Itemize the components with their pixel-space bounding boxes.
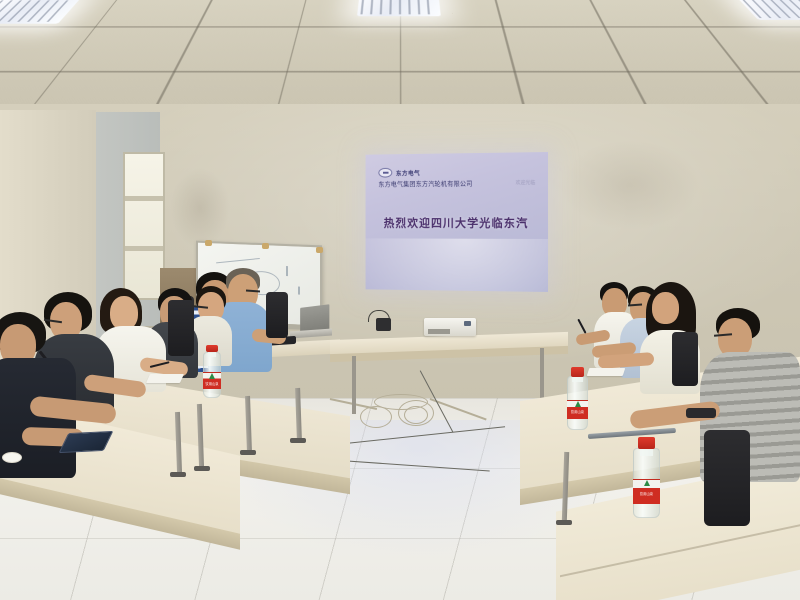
- office-chair: [168, 300, 194, 356]
- whiteboard-pin: [262, 243, 269, 249]
- whiteboard-mark: [286, 266, 288, 276]
- blind-slat: [125, 246, 163, 251]
- whiteboard-mark: [298, 286, 300, 294]
- slide-headline: 热烈欢迎四川大学光临东汽: [366, 215, 548, 231]
- office-chair: [704, 430, 750, 526]
- slide-ghost-text: 欢迎光临: [516, 179, 536, 186]
- slide-company-line: 东方电气集团东方汽轮机有限公司: [378, 178, 472, 189]
- chair-armrest: [686, 408, 716, 418]
- paper-cup[interactable]: [2, 452, 22, 463]
- bottle-label-text: 饮用山泉: [567, 409, 588, 414]
- tree-logo-icon: [575, 401, 581, 407]
- tree-logo-icon: [209, 373, 215, 379]
- bottle-label-text: 饮用山泉: [633, 491, 660, 496]
- office-chair: [266, 292, 288, 338]
- notepad[interactable]: [146, 374, 184, 383]
- notepad[interactable]: [587, 368, 626, 376]
- water-bottle[interactable]: 饮用山泉: [567, 376, 588, 430]
- projection-screen: 东方电气 东方电气集团东方汽轮机有限公司 欢迎光临 热烈欢迎四川大学光临东汽: [366, 152, 548, 292]
- company-emblem-icon: [378, 168, 392, 178]
- bottle-label-text: 饮用山泉: [203, 381, 221, 386]
- projection-glow: [366, 238, 548, 292]
- whiteboard-mark: [216, 258, 260, 264]
- wall-stain: [170, 168, 230, 248]
- office-chair: [672, 332, 698, 386]
- table-foot: [290, 438, 306, 443]
- slide-brand-text: 东方电气: [396, 168, 420, 177]
- power-adapter: [376, 318, 391, 331]
- ceiling-light-fixture: [357, 0, 441, 16]
- projector: [424, 318, 476, 336]
- table-foot: [240, 450, 256, 455]
- slide-logo: 东方电气: [378, 167, 420, 177]
- window-with-blinds: [123, 152, 165, 300]
- whiteboard-pin: [205, 240, 212, 246]
- table-leg: [540, 348, 544, 404]
- table-foot: [556, 520, 572, 525]
- meeting-room-scene: 东方电气 东方电气集团东方汽轮机有限公司 欢迎光临 热烈欢迎四川大学光临东汽: [0, 0, 800, 600]
- blind-slat: [125, 196, 163, 201]
- water-bottle[interactable]: 饮用山泉: [633, 448, 660, 518]
- coiled-cable: [374, 394, 428, 410]
- table-foot: [170, 472, 186, 477]
- water-bottle[interactable]: 饮用山泉: [203, 352, 221, 398]
- wall-stain: [560, 140, 700, 230]
- table-foot: [194, 466, 210, 471]
- table-leg: [352, 356, 356, 414]
- tree-logo-icon: [644, 480, 650, 486]
- whiteboard-pin: [316, 247, 323, 253]
